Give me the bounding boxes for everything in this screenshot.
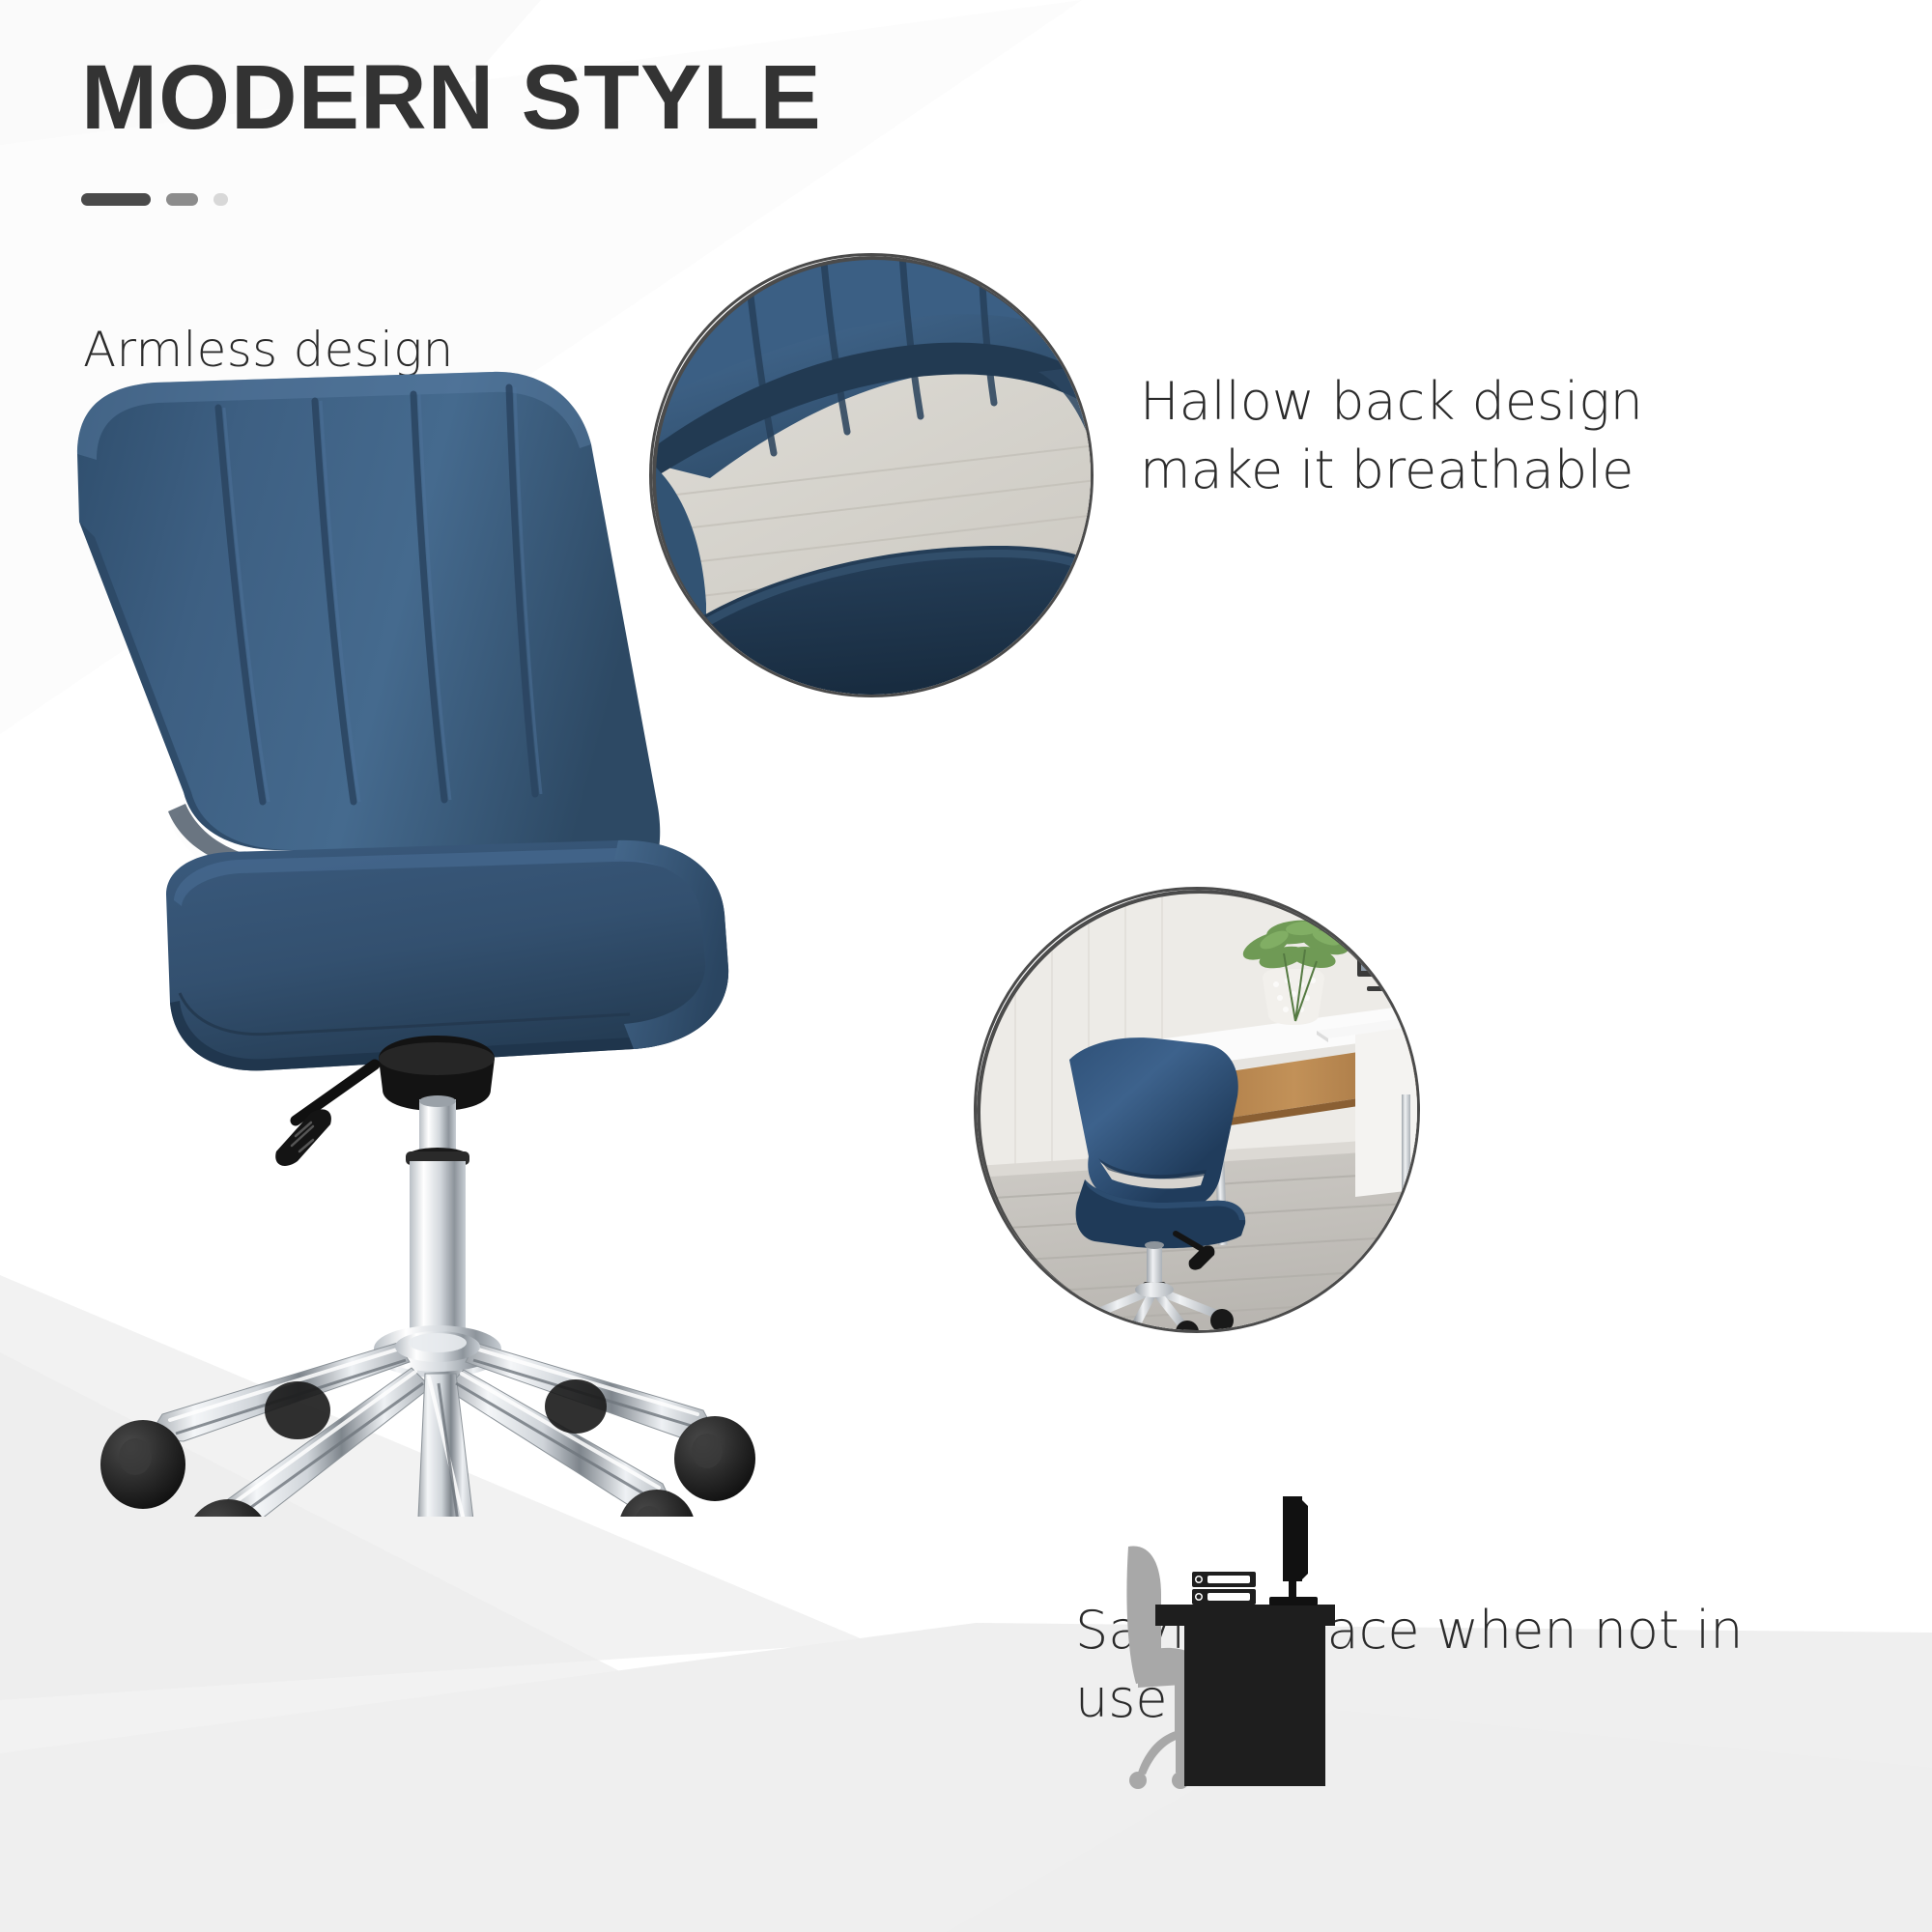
page-title: MODERN STYLE <box>81 50 822 147</box>
inset-hollow-back-photo <box>649 253 1094 697</box>
rule-dash-mid <box>166 193 198 206</box>
caption-hallow-back: Hallow back design make it breathable <box>1140 367 1758 505</box>
inset-lifestyle-photo <box>974 887 1420 1333</box>
saving-space-pictogram <box>1084 1491 1374 1800</box>
rule-dot <box>213 193 228 206</box>
decorative-dash-rule <box>81 193 228 206</box>
rule-dash-long <box>81 193 151 206</box>
